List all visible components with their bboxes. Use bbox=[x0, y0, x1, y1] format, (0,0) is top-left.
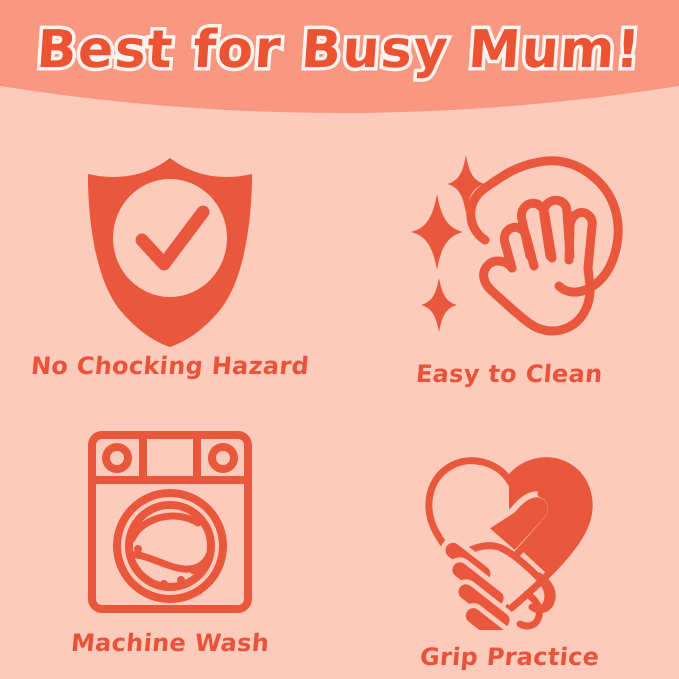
feature-icon-wrap bbox=[409, 405, 609, 635]
sparkle-group bbox=[411, 155, 485, 332]
page-title: Best for Busy Mum! bbox=[36, 24, 644, 76]
heart-handshake-icon bbox=[409, 450, 609, 630]
feature-card-grip-practice[interactable]: Grip Practice bbox=[340, 405, 679, 679]
feature-icon-wrap bbox=[389, 130, 629, 344]
feature-label: Grip Practice bbox=[418, 643, 600, 672]
feature-grid: No Chocking Hazard bbox=[0, 130, 679, 679]
feature-icon-wrap bbox=[80, 405, 260, 617]
feature-label: No Chocking Hazard bbox=[29, 352, 310, 381]
poster-canvas: Best for Busy Mum! No Chocking Hazard bbox=[0, 0, 679, 679]
washing-machine-icon bbox=[80, 427, 260, 617]
feature-label: Easy to Clean bbox=[415, 360, 604, 389]
title-container: Best for Busy Mum! bbox=[0, 0, 679, 100]
feature-card-easy-to-clean[interactable]: Easy to Clean bbox=[340, 130, 679, 405]
hand-wipe-sparkle-icon bbox=[389, 144, 629, 344]
feature-label: Machine Wash bbox=[69, 629, 270, 658]
feature-card-no-chocking-hazard[interactable]: No Chocking Hazard bbox=[0, 130, 340, 405]
shield-check-icon bbox=[70, 148, 270, 348]
feature-icon-wrap bbox=[70, 130, 270, 348]
feature-card-machine-wash[interactable]: Machine Wash bbox=[0, 405, 340, 679]
